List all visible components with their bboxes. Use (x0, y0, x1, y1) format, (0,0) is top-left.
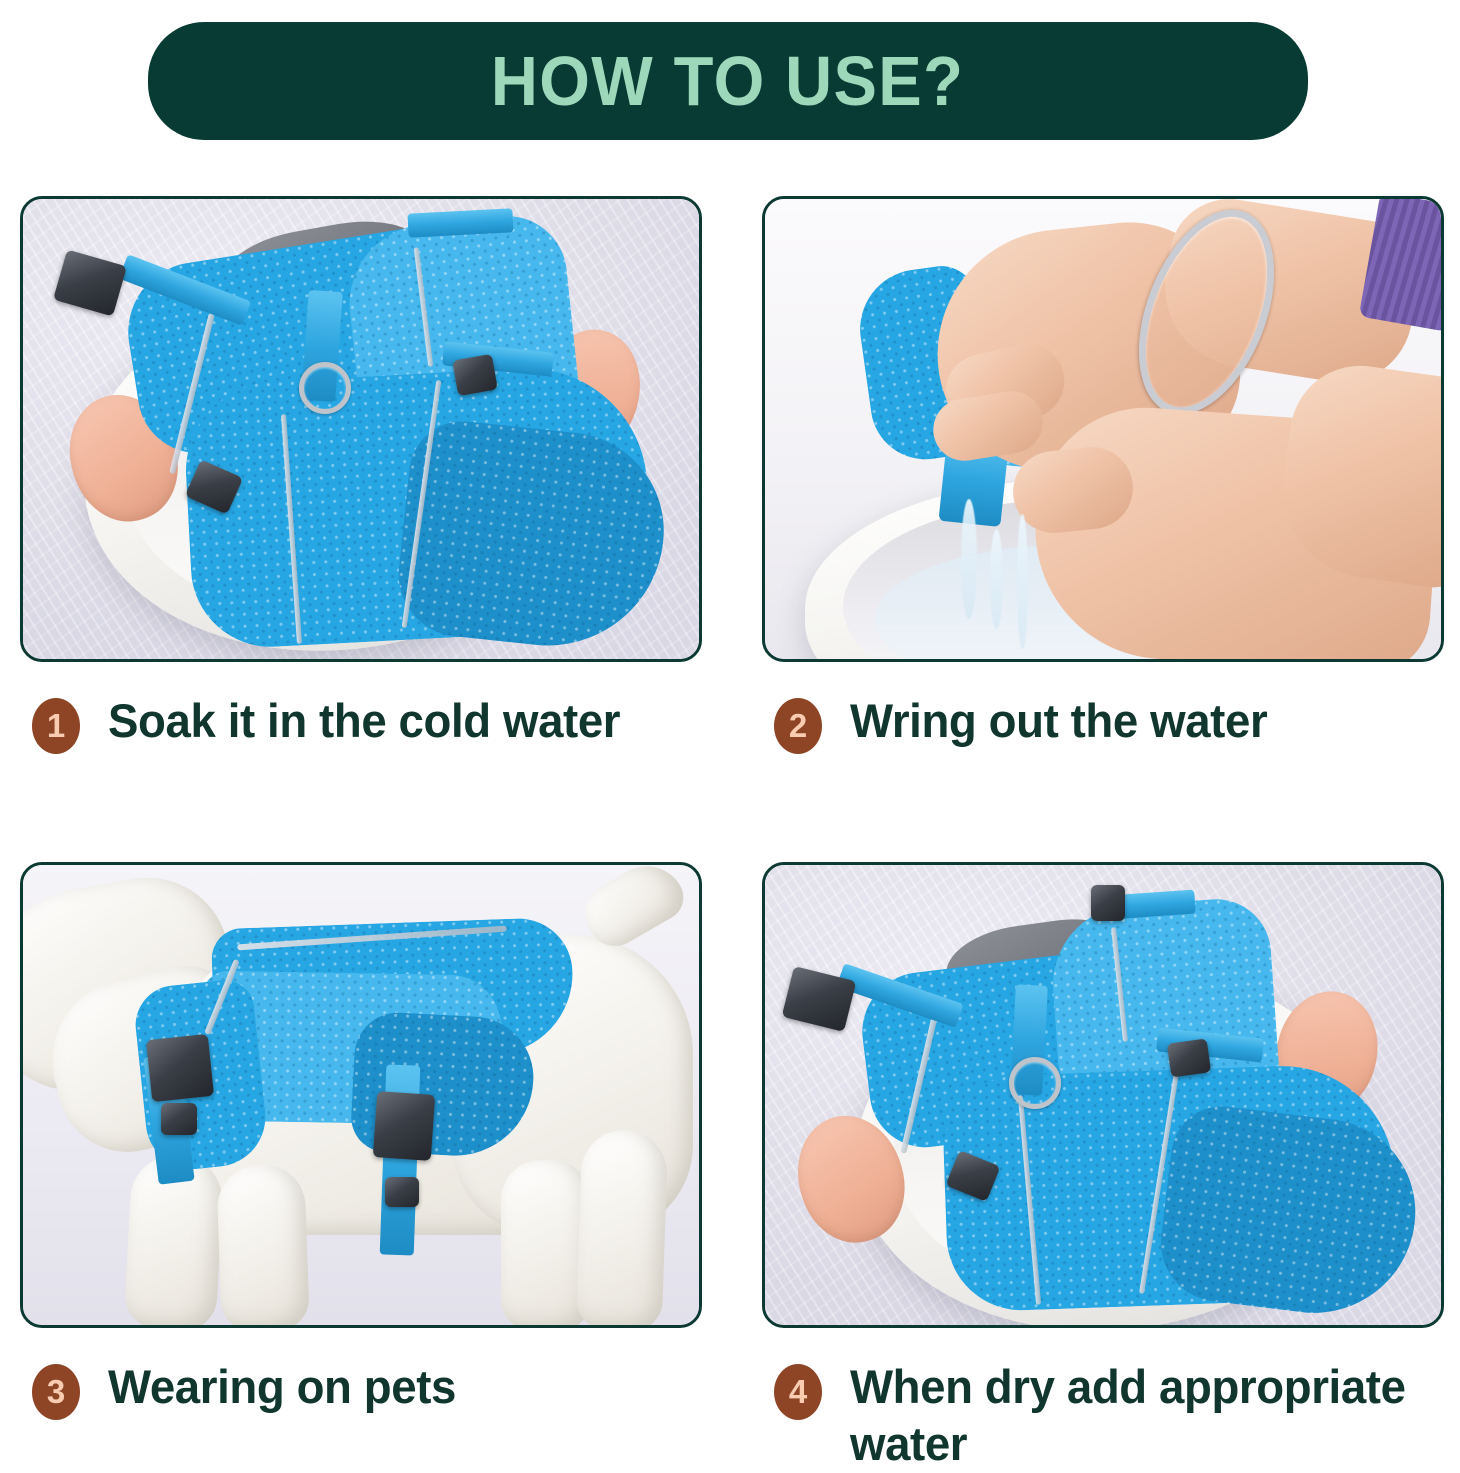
buckle-right (1167, 1038, 1211, 1077)
step-4: 4 When dry add appropriate water (762, 862, 1444, 1473)
step-3-photo (23, 865, 699, 1325)
page-title: HOW TO USE? (491, 46, 964, 116)
top-buckle (1091, 885, 1125, 921)
step-2-caption-row: 2 Wring out the water (762, 692, 1444, 754)
header-banner: HOW TO USE? (148, 22, 1308, 140)
step-4-photo-frame (762, 862, 1444, 1328)
d-ring (1009, 1057, 1061, 1109)
step-3-caption: Wearing on pets (108, 1358, 456, 1415)
worn-adjuster-front (161, 1103, 197, 1135)
water-drip-2 (990, 529, 1003, 629)
worn-buckle-front (146, 1034, 214, 1102)
step-1-photo (23, 199, 699, 659)
step-4-caption-row: 4 When dry add appropriate water (762, 1358, 1444, 1473)
step-3-photo-frame (20, 862, 702, 1328)
dog-front-leg-right (216, 1164, 310, 1325)
step-2-badge: 2 (774, 698, 822, 754)
step-2-caption: Wring out the water (850, 692, 1267, 749)
step-3-badge: 3 (32, 1364, 80, 1420)
water-drip-3 (1017, 514, 1028, 649)
dog-hind-leg-right (576, 1129, 669, 1325)
infographic-page: HOW TO USE? (0, 0, 1460, 1460)
step-1-photo-frame (20, 196, 702, 662)
step-1-caption: Soak it in the cold water (108, 692, 620, 749)
step-2-photo-frame (762, 196, 1444, 662)
worn-buckle-rear (373, 1091, 435, 1161)
worn-adjuster-rear (385, 1177, 419, 1207)
step-1-caption-row: 1 Soak it in the cold water (20, 692, 702, 754)
step-2: 2 Wring out the water (762, 196, 1444, 754)
d-ring (299, 362, 351, 414)
buckle-right (452, 354, 498, 396)
step-4-caption: When dry add appropriate water (850, 1358, 1422, 1473)
step-3: 3 Wearing on pets (20, 862, 702, 1420)
water-drip-1 (961, 499, 977, 619)
step-4-photo (765, 865, 1441, 1325)
step-4-badge: 4 (774, 1364, 822, 1420)
step-3-caption-row: 3 Wearing on pets (20, 1358, 702, 1420)
step-2-photo (765, 199, 1441, 659)
steps-grid: 1 Soak it in the cold water (0, 196, 1460, 1456)
step-1: 1 Soak it in the cold water (20, 196, 702, 754)
step-1-badge: 1 (32, 698, 80, 754)
